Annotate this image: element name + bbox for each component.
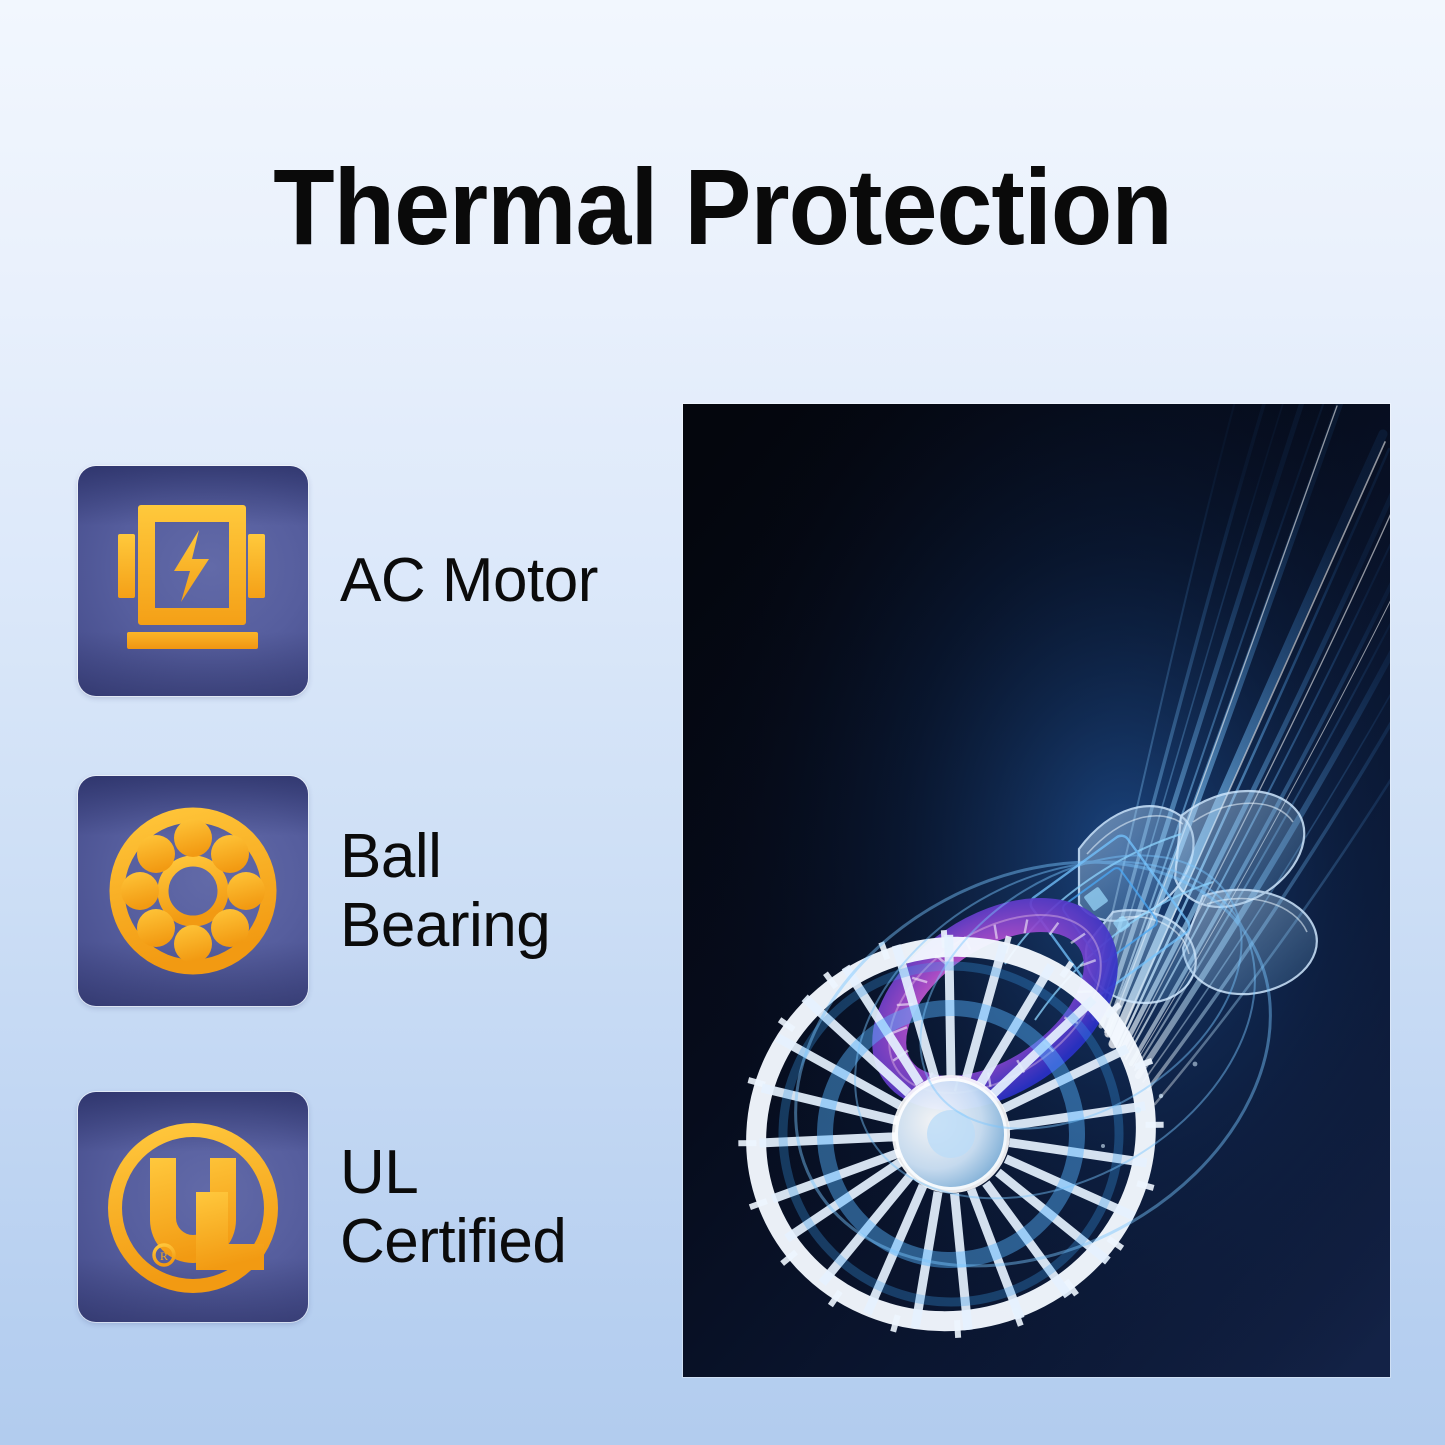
svg-text:R: R [160, 1249, 168, 1263]
ball-bearing-icon-tile [78, 776, 308, 1006]
feature-item-ac-motor: AC Motor [78, 466, 598, 696]
ac-motor-icon-tile [78, 466, 308, 696]
ac-motor-icon [78, 466, 308, 696]
fan-motor-illustration [683, 404, 1390, 1377]
feature-label-ul-certified: UL Certified [340, 1138, 566, 1277]
ul-certified-icon: R [78, 1092, 308, 1322]
feature-label-ac-motor: AC Motor [340, 546, 598, 615]
product-photo [683, 404, 1390, 1377]
ball-bearing-icon [78, 776, 308, 1006]
feature-item-ball-bearing: Ball Bearing [78, 776, 550, 1006]
feature-item-ul-certified: R UL Certified [78, 1092, 566, 1322]
ul-certified-icon-tile: R [78, 1092, 308, 1322]
feature-label-ball-bearing: Ball Bearing [340, 822, 550, 961]
page-title: Thermal Protection [51, 150, 1395, 263]
